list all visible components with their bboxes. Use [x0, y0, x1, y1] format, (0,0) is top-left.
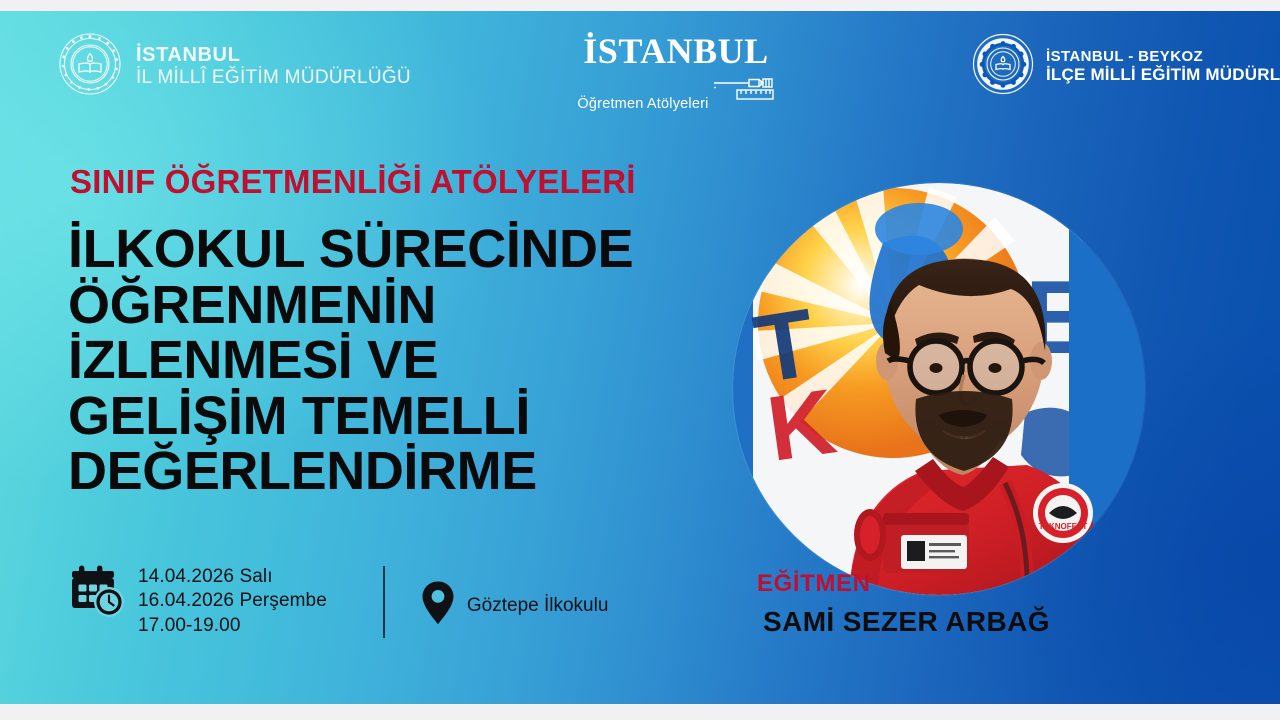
beykoz-emblem-icon [972, 33, 1034, 100]
page-title: İLKOKUL SÜRECİNDE ÖĞRENMENİN İZLENMESİ V… [68, 222, 768, 500]
pencil-ruler-icon [713, 73, 775, 112]
event-time: 17.00-19.00 [138, 614, 327, 638]
trainer-name: SAMİ SEZER ARBAĞ [763, 606, 1050, 638]
logo-center-subtitle: Öğretmen Atölyeleri [577, 96, 708, 112]
event-info-row: 14.04.2026 Salı 16.04.2026 Perşembe 17.0… [68, 562, 608, 638]
logo-left-line2: İL MİLLÎ EĞİTİM MÜDÜRLÜĞÜ [136, 67, 411, 89]
trainer-block: EĞİTMEN SAMİ SEZER ARBAĞ [757, 570, 1050, 638]
info-divider [383, 566, 385, 638]
event-date-1: 14.04.2026 Salı [138, 565, 327, 589]
header-bar: İSTANBUL İL MİLLÎ EĞİTİM MÜDÜRLÜĞÜ İSTAN… [0, 11, 1280, 116]
bottom-frame-strip [0, 704, 1280, 720]
trainer-role-label: EĞİTMEN [757, 570, 1050, 598]
logo-istanbul-mem: İSTANBUL İL MİLLÎ EĞİTİM MÜDÜRLÜĞÜ [58, 32, 411, 101]
poster-root: İSTANBUL İL MİLLÎ EĞİTİM MÜDÜRLÜĞÜ İSTAN… [0, 0, 1280, 720]
event-date-block: 14.04.2026 Salı 16.04.2026 Perşembe 17.0… [68, 562, 327, 638]
logo-beykoz-ilce-mem: İSTANBUL - BEYKOZ İLÇE MİLLİ EĞİTİM MÜDÜ… [972, 33, 1280, 100]
event-location-label: Göztepe İlkokulu [467, 595, 609, 617]
calendar-clock-icon [68, 562, 126, 625]
headline-line-1: İLKOKUL SÜRECİNDE [68, 222, 768, 278]
map-pin-icon [421, 580, 455, 631]
headline-line-4: GELİŞİM TEMELLİ [68, 389, 768, 445]
logo-istanbul-mem-text: İSTANBUL İL MİLLÎ EĞİTİM MÜDÜRLÜĞÜ [136, 44, 411, 90]
top-frame-strip [0, 0, 1280, 11]
logo-left-line1: İSTANBUL [136, 44, 411, 68]
logo-right-line1: İSTANBUL - BEYKOZ [1046, 48, 1280, 65]
logo-center-title: İSTANBUL [576, 33, 776, 71]
svg-text:TEKNOFEST: TEKNOFEST [1039, 522, 1088, 531]
svg-text:K: K [762, 371, 842, 481]
logo-right-line2: İLÇE MİLLİ EĞİTİM MÜDÜRLÜĞÜ [1046, 65, 1280, 85]
headline-line-5: DEĞERLENDİRME [68, 444, 768, 500]
event-date-lines: 14.04.2026 Salı 16.04.2026 Perşembe 17.0… [138, 562, 327, 638]
logo-center-subrow: Öğretmen Atölyeleri [576, 73, 776, 112]
headline-line-2: ÖĞRENMENİN [68, 278, 768, 334]
event-date-2: 16.04.2026 Perşembe [138, 589, 327, 613]
headline-line-3: İZLENMESİ VE [68, 333, 768, 389]
logo-ogretmen-atolyeleri: İSTANBUL Öğretmen Atölyeleri [576, 33, 776, 112]
meb-emblem-icon [58, 32, 122, 101]
workshop-kicker: SINIF ÖĞRETMENLİĞİ ATÖLYELERİ [70, 163, 636, 201]
logo-beykoz-text: İSTANBUL - BEYKOZ İLÇE MİLLİ EĞİTİM MÜDÜ… [1046, 48, 1280, 85]
event-location-block: Göztepe İlkokulu [421, 562, 609, 631]
trainer-photo: T E K [733, 183, 1145, 595]
